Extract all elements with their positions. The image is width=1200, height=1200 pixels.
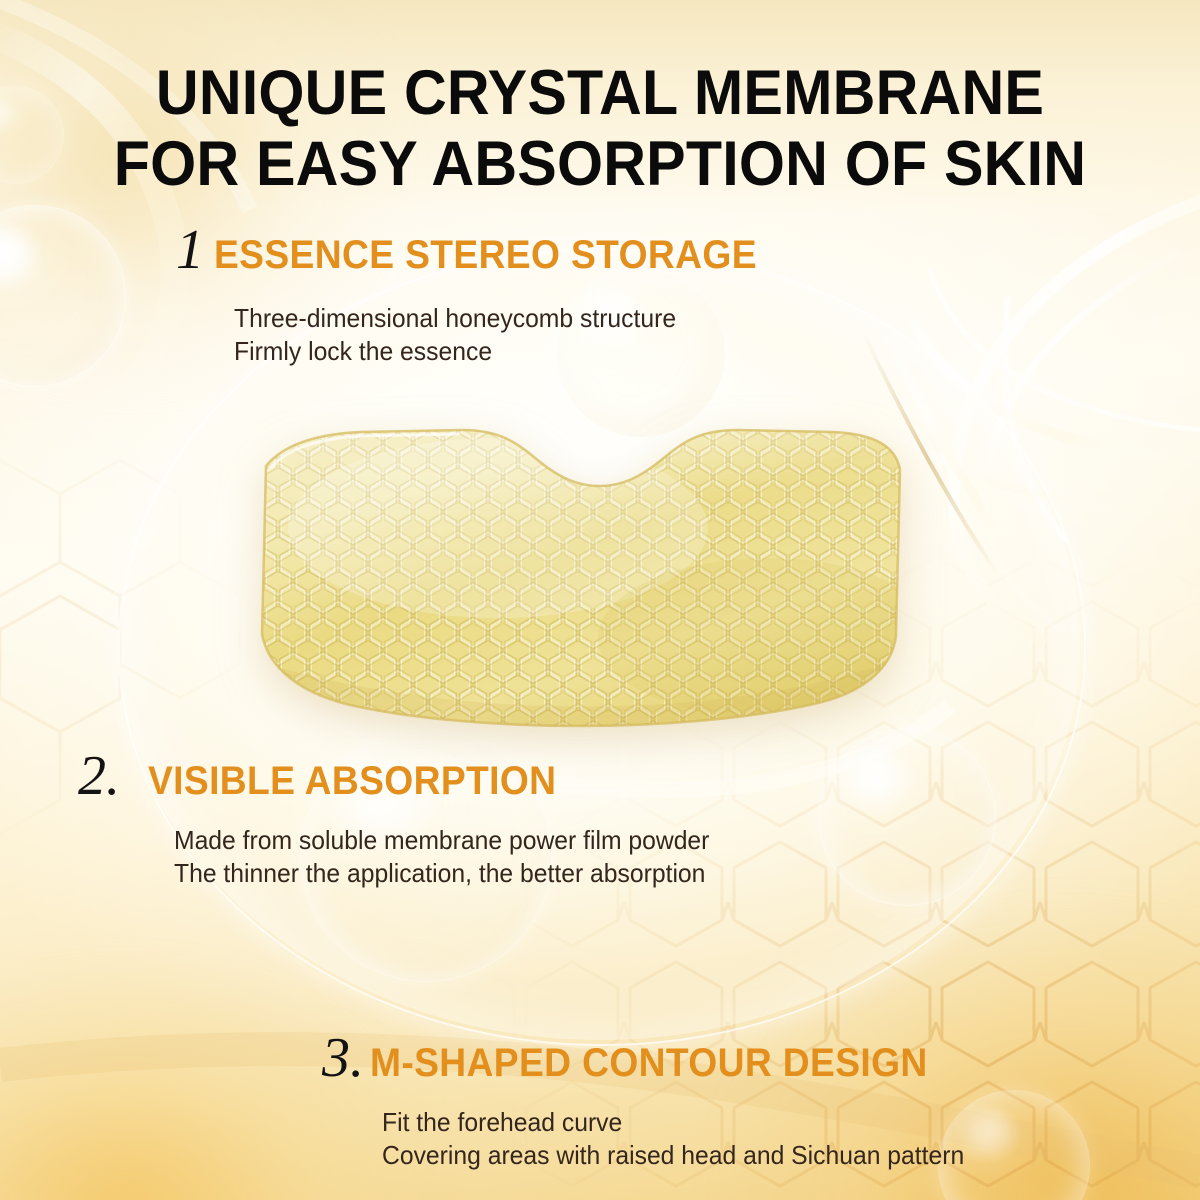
feature-2-number: 2. [78, 748, 120, 804]
page-title: UNIQUE CRYSTAL MEMBRANE FOR EASY ABSORPT… [36, 58, 1164, 200]
feature-1-heading: 1 ESSENCE STEREO STORAGE [176, 222, 798, 278]
feature-1-title: ESSENCE STEREO STORAGE [214, 235, 757, 275]
feature-3-number: 3. [322, 1030, 364, 1086]
feature-1-body: Three-dimensional honeycomb structure Fi… [234, 302, 770, 368]
product-patch [248, 408, 908, 728]
feature-2-heading: 2. VISIBLE ABSORPTION [78, 748, 738, 804]
feature-1-number: 1 [176, 222, 204, 278]
feature-3-body: Fit the forehead curve Covering areas wi… [382, 1106, 964, 1172]
feature-2-body: Made from soluble membrane power film po… [174, 824, 709, 890]
feature-2-title: VISIBLE ABSORPTION [148, 761, 556, 801]
product-feature-poster: UNIQUE CRYSTAL MEMBRANE FOR EASY ABSORPT… [0, 0, 1200, 1200]
feature-block-2: 2. VISIBLE ABSORPTION Made from soluble … [78, 748, 738, 890]
feature-block-3: 3. M-SHAPED CONTOUR DESIGN Fit the foreh… [322, 1030, 995, 1172]
bubble-right-mid [818, 728, 996, 906]
gold-honeycomb-patch-icon [248, 408, 908, 728]
feature-3-title: M-SHAPED CONTOUR DESIGN [370, 1043, 928, 1083]
feature-block-1: 1 ESSENCE STEREO STORAGE Three-dimension… [176, 222, 798, 368]
feature-3-heading: 3. M-SHAPED CONTOUR DESIGN [322, 1030, 995, 1086]
